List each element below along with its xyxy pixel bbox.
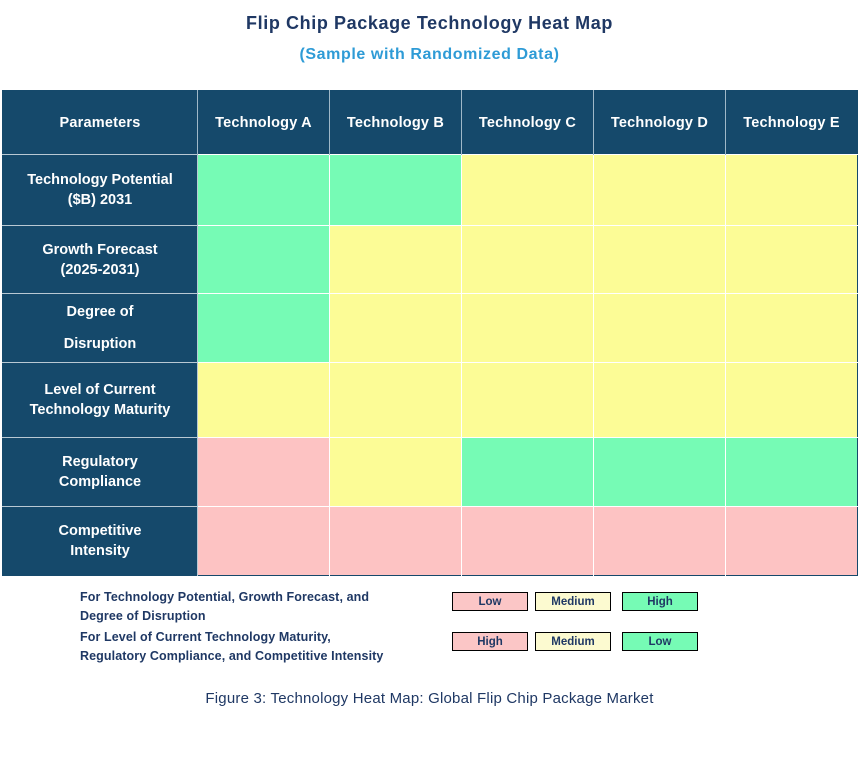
- heatmap-cell: [462, 155, 594, 226]
- legend-description-line: Degree of Disruption: [80, 607, 369, 626]
- heatmap-cell: [726, 155, 858, 226]
- heatmap-cell: [726, 226, 858, 294]
- header-row: Parameters Technology A Technology B Tec…: [3, 91, 858, 155]
- legend-swatch-medium: Medium: [535, 632, 611, 651]
- row-label-line: Technology Maturity: [3, 400, 197, 420]
- row-label-line: Growth Forecast: [3, 240, 197, 260]
- heatmap-cell: [198, 294, 330, 363]
- heatmap-cell: [462, 363, 594, 438]
- table-row: Technology Potential($B) 2031: [3, 155, 858, 226]
- heatmap-cell: [330, 155, 462, 226]
- table-row: CompetitiveIntensity: [3, 507, 858, 576]
- heatmap-container: Parameters Technology A Technology B Tec…: [2, 90, 857, 576]
- heatmap-cell: [594, 294, 726, 363]
- row-label-line: Technology Potential: [3, 170, 197, 190]
- heatmap-body: Technology Potential($B) 2031Growth Fore…: [3, 155, 858, 576]
- heatmap-cell: [462, 438, 594, 507]
- heatmap-cell: [198, 507, 330, 576]
- heatmap-cell: [594, 363, 726, 438]
- legend-swatch-low: Low: [622, 632, 698, 651]
- heatmap-cell: [726, 507, 858, 576]
- heatmap-cell: [462, 294, 594, 363]
- legend: For Technology Potential, Growth Forecas…: [0, 588, 859, 668]
- column-header-technology-b: Technology B: [330, 91, 462, 155]
- row-label-line: (2025-2031): [3, 260, 197, 280]
- figure-caption: Figure 3: Technology Heat Map: Global Fl…: [0, 690, 859, 707]
- heatmap-cell: [330, 363, 462, 438]
- heatmap-cell: [330, 438, 462, 507]
- row-label-line: Level of Current: [3, 380, 197, 400]
- heatmap-cell: [594, 438, 726, 507]
- heatmap-cell: [198, 363, 330, 438]
- row-label: Level of CurrentTechnology Maturity: [3, 363, 198, 438]
- heatmap-cell: [726, 294, 858, 363]
- row-label: CompetitiveIntensity: [3, 507, 198, 576]
- legend-row: For Technology Potential, Growth Forecas…: [0, 588, 859, 628]
- row-label-line: Intensity: [3, 541, 197, 561]
- heatmap-cell: [198, 155, 330, 226]
- heatmap-cell: [594, 507, 726, 576]
- row-label-line: Disruption: [3, 334, 197, 354]
- page-subtitle: (Sample with Randomized Data): [0, 45, 859, 65]
- heatmap-cell: [330, 507, 462, 576]
- heatmap-cell: [726, 438, 858, 507]
- heatmap-cell: [462, 507, 594, 576]
- legend-row: For Level of Current Technology Maturity…: [0, 628, 859, 668]
- title-block: Flip Chip Package Technology Heat Map (S…: [0, 0, 859, 65]
- heatmap-cell: [198, 226, 330, 294]
- heatmap-cell: [330, 226, 462, 294]
- heatmap-cell: [594, 226, 726, 294]
- row-label-line: ($B) 2031: [3, 190, 197, 210]
- row-label: Technology Potential($B) 2031: [3, 155, 198, 226]
- page-title: Flip Chip Package Technology Heat Map: [0, 12, 859, 34]
- column-header-parameters: Parameters: [3, 91, 198, 155]
- legend-swatch-high: High: [452, 632, 528, 651]
- column-header-technology-a: Technology A: [198, 91, 330, 155]
- legend-swatch-low: Low: [452, 592, 528, 611]
- heatmap-cell: [462, 226, 594, 294]
- row-label-line: Compliance: [3, 472, 197, 492]
- row-label-line: Regulatory: [3, 452, 197, 472]
- legend-description: For Technology Potential, Growth Forecas…: [80, 588, 369, 626]
- row-label: Growth Forecast(2025-2031): [3, 226, 198, 294]
- row-label-line: Competitive: [3, 521, 197, 541]
- heatmap-cell: [330, 294, 462, 363]
- legend-swatch-high: High: [622, 592, 698, 611]
- column-header-technology-c: Technology C: [462, 91, 594, 155]
- row-label-line: Degree of: [3, 302, 197, 322]
- heatmap-cell: [726, 363, 858, 438]
- table-row: RegulatoryCompliance: [3, 438, 858, 507]
- column-header-technology-e: Technology E: [726, 91, 858, 155]
- table-row: Growth Forecast(2025-2031): [3, 226, 858, 294]
- heatmap-cell: [198, 438, 330, 507]
- row-label: RegulatoryCompliance: [3, 438, 198, 507]
- legend-description-line: Regulatory Compliance, and Competitive I…: [80, 647, 383, 666]
- heatmap-table: Parameters Technology A Technology B Tec…: [2, 90, 858, 576]
- heatmap-header: Parameters Technology A Technology B Tec…: [3, 91, 858, 155]
- table-row: Degree ofDisruption: [3, 294, 858, 363]
- row-label: Degree ofDisruption: [3, 294, 198, 363]
- table-row: Level of CurrentTechnology Maturity: [3, 363, 858, 438]
- column-header-technology-d: Technology D: [594, 91, 726, 155]
- legend-description: For Level of Current Technology Maturity…: [80, 628, 383, 666]
- legend-description-line: For Technology Potential, Growth Forecas…: [80, 588, 369, 607]
- legend-swatch-medium: Medium: [535, 592, 611, 611]
- legend-description-line: For Level of Current Technology Maturity…: [80, 628, 383, 647]
- heatmap-cell: [594, 155, 726, 226]
